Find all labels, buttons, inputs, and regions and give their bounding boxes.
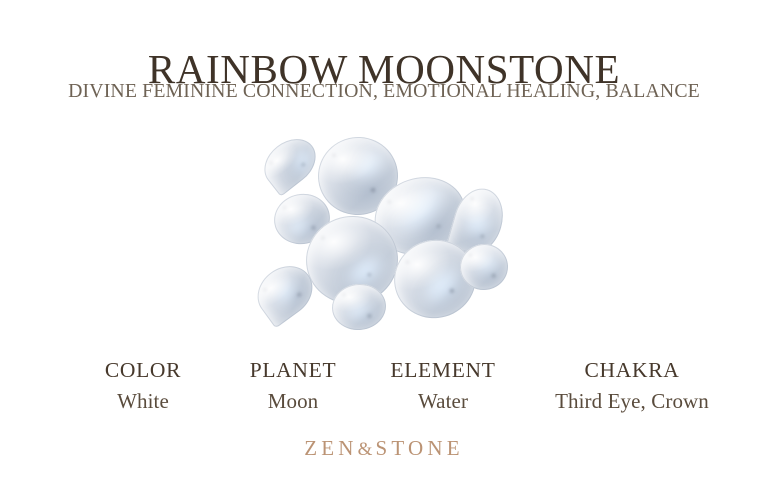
wordmark-ampersand: & bbox=[358, 439, 376, 460]
moonstone-cluster-image bbox=[248, 132, 514, 332]
attribute-color: COLORWhite bbox=[105, 360, 181, 412]
attribute-label-element: ELEMENT bbox=[390, 360, 495, 382]
attribute-planet: PLANETMoon bbox=[250, 360, 337, 412]
brand-wordmark: ZEN&STONE bbox=[0, 438, 768, 459]
attribute-value-color: White bbox=[105, 391, 181, 412]
attribute-chakra: CHAKRAThird Eye, Crown bbox=[555, 360, 709, 412]
attribute-element: ELEMENTWater bbox=[390, 360, 495, 412]
attribute-label-color: COLOR bbox=[105, 360, 181, 382]
attribute-label-chakra: CHAKRA bbox=[555, 360, 709, 382]
attribute-row: COLORWhitePLANETMoonELEMENTWaterCHAKRATh… bbox=[0, 360, 768, 418]
gemstone-info-card: RAINBOW MOONSTONE DIVINE FEMININE CONNEC… bbox=[0, 0, 768, 480]
attribute-value-element: Water bbox=[390, 391, 495, 412]
attribute-value-chakra: Third Eye, Crown bbox=[555, 391, 709, 412]
page-subtitle: DIVINE FEMININE CONNECTION, EMOTIONAL HE… bbox=[13, 80, 754, 103]
gemstone-rim-highlight bbox=[255, 129, 325, 197]
attribute-value-planet: Moon bbox=[250, 391, 337, 412]
gemstone-pear-top-left bbox=[255, 129, 325, 197]
attribute-label-planet: PLANET bbox=[250, 360, 337, 382]
wordmark-last: STONE bbox=[375, 436, 463, 460]
wordmark-first: ZEN bbox=[304, 436, 357, 460]
